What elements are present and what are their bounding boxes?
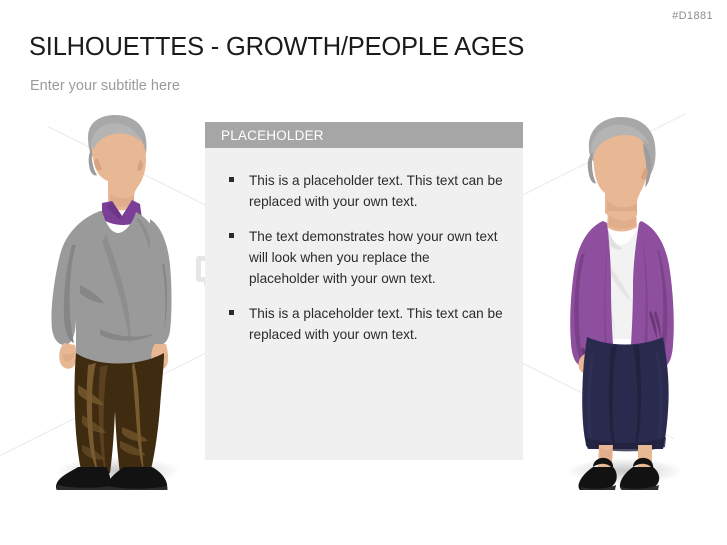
- panel-header-label: PLACEHOLDER: [221, 128, 324, 143]
- slide-id-code: #D1881: [672, 10, 713, 22]
- placeholder-content-panel: PLACEHOLDER This is a placeholder text. …: [205, 122, 523, 460]
- slide-canvas: #D1881 SILHOUETTES - GROWTH/PEOPLE AGES …: [0, 0, 727, 545]
- page-subtitle[interactable]: Enter your subtitle here: [30, 78, 180, 94]
- panel-header: PLACEHOLDER: [205, 122, 523, 148]
- list-item[interactable]: The text demonstrates how your own text …: [223, 226, 503, 289]
- list-item-text: This is a placeholder text. This text ca…: [249, 173, 503, 209]
- list-item-text: The text demonstrates how your own text …: [249, 229, 498, 286]
- square-bullet-icon: [229, 233, 234, 238]
- list-item-text: This is a placeholder text. This text ca…: [249, 306, 503, 342]
- elderly-man-illustration: [36, 115, 196, 490]
- elderly-woman-illustration: [553, 115, 703, 490]
- list-item[interactable]: This is a placeholder text. This text ca…: [223, 303, 503, 345]
- silhouette-elderly-woman: [553, 115, 703, 490]
- placeholder-bullet-list: This is a placeholder text. This text ca…: [205, 148, 523, 345]
- square-bullet-icon: [229, 310, 234, 315]
- silhouette-elderly-man: [36, 115, 196, 490]
- square-bullet-icon: [229, 177, 234, 182]
- page-title: SILHOUETTES - GROWTH/PEOPLE AGES: [29, 33, 524, 62]
- list-item[interactable]: This is a placeholder text. This text ca…: [223, 170, 503, 212]
